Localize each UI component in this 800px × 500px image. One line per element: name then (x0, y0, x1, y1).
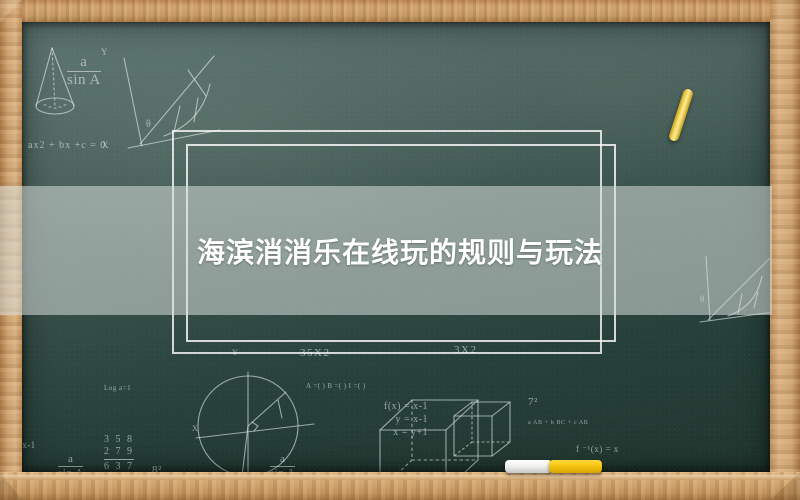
frame-miter-top-left (0, 0, 22, 22)
yellow-chalk-on-ledge (549, 460, 602, 473)
white-chalk-on-ledge (505, 460, 552, 473)
page-title: 海滨消消乐在线玩的规则与玩法 (0, 186, 800, 315)
frame-miter-bottom-left (0, 472, 22, 500)
frame-miter-bottom-right (770, 472, 800, 500)
frame-top-rail (0, 0, 800, 22)
ledge-lip (0, 475, 800, 480)
chalkboard-banner: a sin A ax2 + bx +c = 0 Y X θ (0, 0, 800, 500)
